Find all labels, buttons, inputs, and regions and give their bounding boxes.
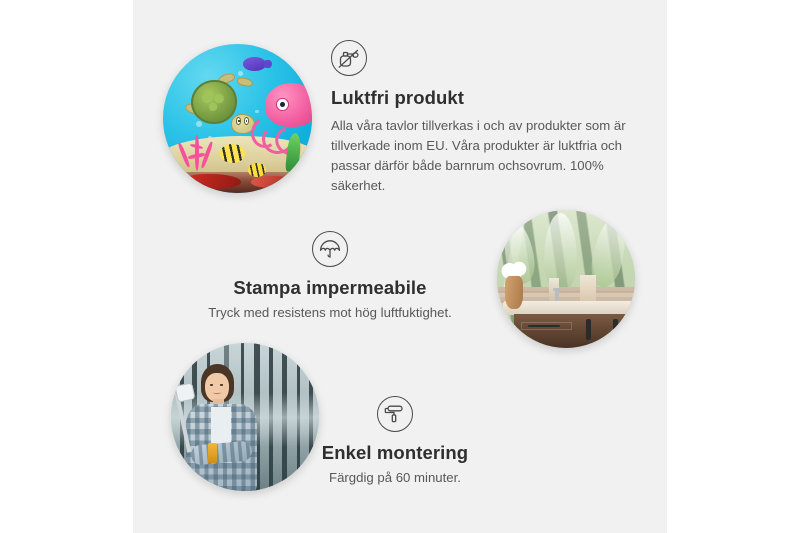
paint-roller-icon xyxy=(377,396,413,432)
turtle-shell xyxy=(191,80,237,124)
feature-title: Enkel montering xyxy=(250,441,540,464)
shipwreck-band xyxy=(163,172,312,193)
octopus-head xyxy=(265,83,313,128)
coral-illustration xyxy=(175,129,220,171)
umbrella-icon xyxy=(312,231,348,267)
photo-bathroom xyxy=(497,210,635,348)
feature-description: Färgdig på 60 minuter. xyxy=(250,468,540,488)
feature-description: Tryck med resistens mot hög luftfuktighe… xyxy=(180,303,480,323)
photo-underwater xyxy=(163,44,312,193)
fish-illustration xyxy=(248,163,266,176)
bubble-icon xyxy=(238,71,243,76)
feature-title: Stampa impermeabile xyxy=(180,276,480,299)
fish-illustration xyxy=(243,57,265,70)
turtle-eye xyxy=(236,117,241,125)
face xyxy=(205,373,229,402)
feature-odourless: Luktfri produkt Alla våra tavlor tillver… xyxy=(331,40,631,196)
fish-illustration xyxy=(220,144,245,163)
product-features-panel: Luktfri produkt Alla våra tavlor tillver… xyxy=(0,0,800,533)
paint-can xyxy=(208,443,217,463)
feature-waterproof: Stampa impermeabile Tryck med resistens … xyxy=(180,231,480,323)
paint-roller-head xyxy=(175,382,196,402)
octopus-eye xyxy=(276,98,289,111)
no-fragrance-icon xyxy=(331,40,367,76)
cabinet-handle xyxy=(613,319,618,340)
feature-description: Alla våra tavlor tillverkas i och av pro… xyxy=(331,116,631,196)
octopus-illustration xyxy=(249,83,312,158)
turtle-illustration xyxy=(185,77,257,137)
smile xyxy=(213,391,221,394)
feature-easy-mounting: Enkel montering Färgdig på 60 minuter. xyxy=(250,396,540,488)
vase xyxy=(505,276,523,309)
eye xyxy=(220,384,223,386)
feature-title: Luktfri produkt xyxy=(331,86,631,109)
cabinet-handle xyxy=(528,325,560,327)
turtle-eye xyxy=(244,117,249,125)
cabinet-handle xyxy=(586,319,591,340)
vanity-cabinet xyxy=(514,314,635,349)
eye xyxy=(210,384,213,386)
